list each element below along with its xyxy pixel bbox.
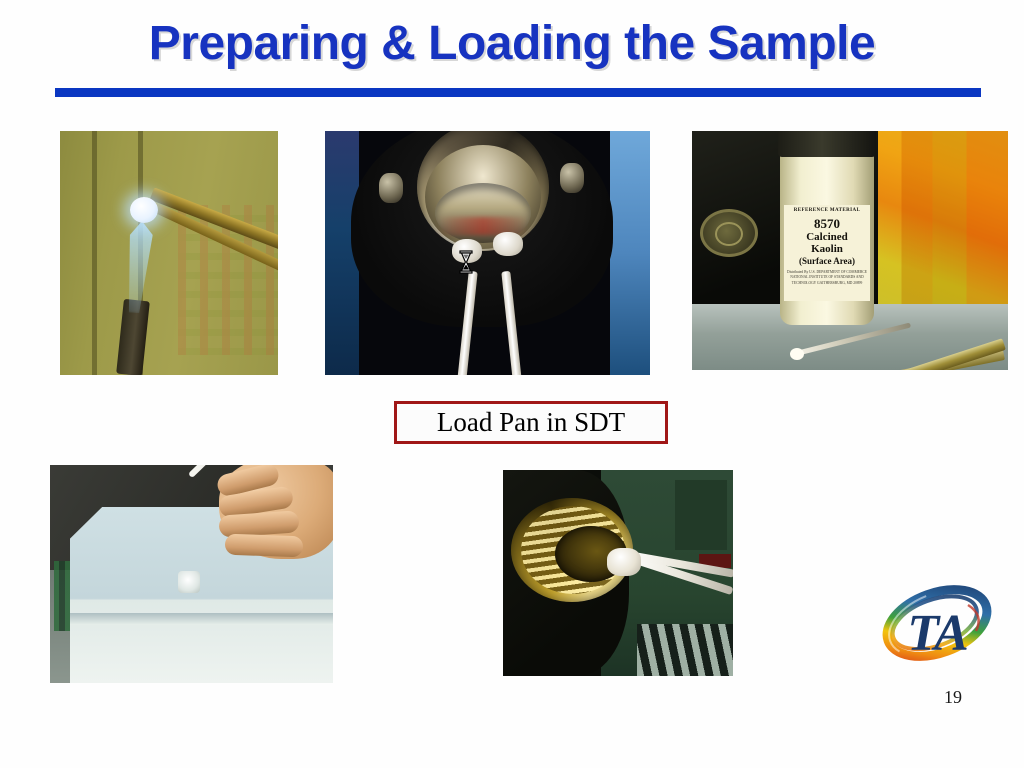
heat-sink-fins	[637, 624, 733, 676]
ta-instruments-logo: TA	[872, 575, 1002, 675]
furnace-bolt-right	[560, 163, 584, 193]
beam-pan-holder-right	[493, 232, 523, 256]
jar-label-fine-print: Distributed By U.S. DEPARTMENT OF COMMER…	[784, 270, 870, 286]
slide-canvas: Preparing & Loading the Sample	[0, 0, 1024, 768]
jar-label-line-surface-area: (Surface Area)	[784, 256, 870, 266]
photo-brass-furnace-port	[503, 470, 733, 676]
flame-streak-left	[92, 131, 97, 375]
sample-spatula-tip	[790, 348, 804, 360]
nist-seal-emblem	[700, 209, 758, 257]
photo-hand-loading-rod	[50, 465, 333, 683]
ceramic-pan-in-tweezers	[607, 548, 641, 576]
caption-text: Load Pan in SDT	[437, 407, 625, 438]
title-underline-rule	[55, 88, 981, 97]
ta-logo-wordmark: TA	[872, 575, 1002, 675]
page-title: Preparing & Loading the Sample	[0, 16, 1024, 71]
caption-box-load-pan: Load Pan in SDT	[394, 401, 668, 444]
jar-label-line-calcined: Calcined	[784, 232, 870, 244]
jar-label-line-number: 8570	[784, 216, 870, 232]
jar-backdrop-color-blocks	[878, 131, 1008, 307]
balance-front-edge	[70, 613, 333, 625]
jar-label-line-reference: REFERENCE MATERIAL	[784, 208, 870, 213]
finger-little	[225, 534, 304, 558]
photo-sdt-furnace-beams	[325, 131, 650, 375]
hourglass-wait-cursor-icon	[458, 250, 474, 274]
jar-label-line-kaolin: Kaolin	[784, 244, 870, 256]
port-dark-panel	[675, 480, 727, 550]
jar-label: REFERENCE MATERIAL 8570 Calcined Kaolin …	[784, 205, 870, 301]
photo-flame-heating-pan	[60, 131, 278, 375]
ceramic-sample-pan	[130, 197, 158, 223]
photo-kaolin-reference-jar: REFERENCE MATERIAL 8570 Calcined Kaolin …	[692, 131, 1008, 370]
slide-number: 19	[944, 687, 962, 708]
furnace-bolt-left	[379, 173, 403, 203]
balance-pan-opening	[178, 571, 200, 593]
jar-lid	[778, 131, 876, 157]
furnace-right-edge	[610, 131, 650, 375]
